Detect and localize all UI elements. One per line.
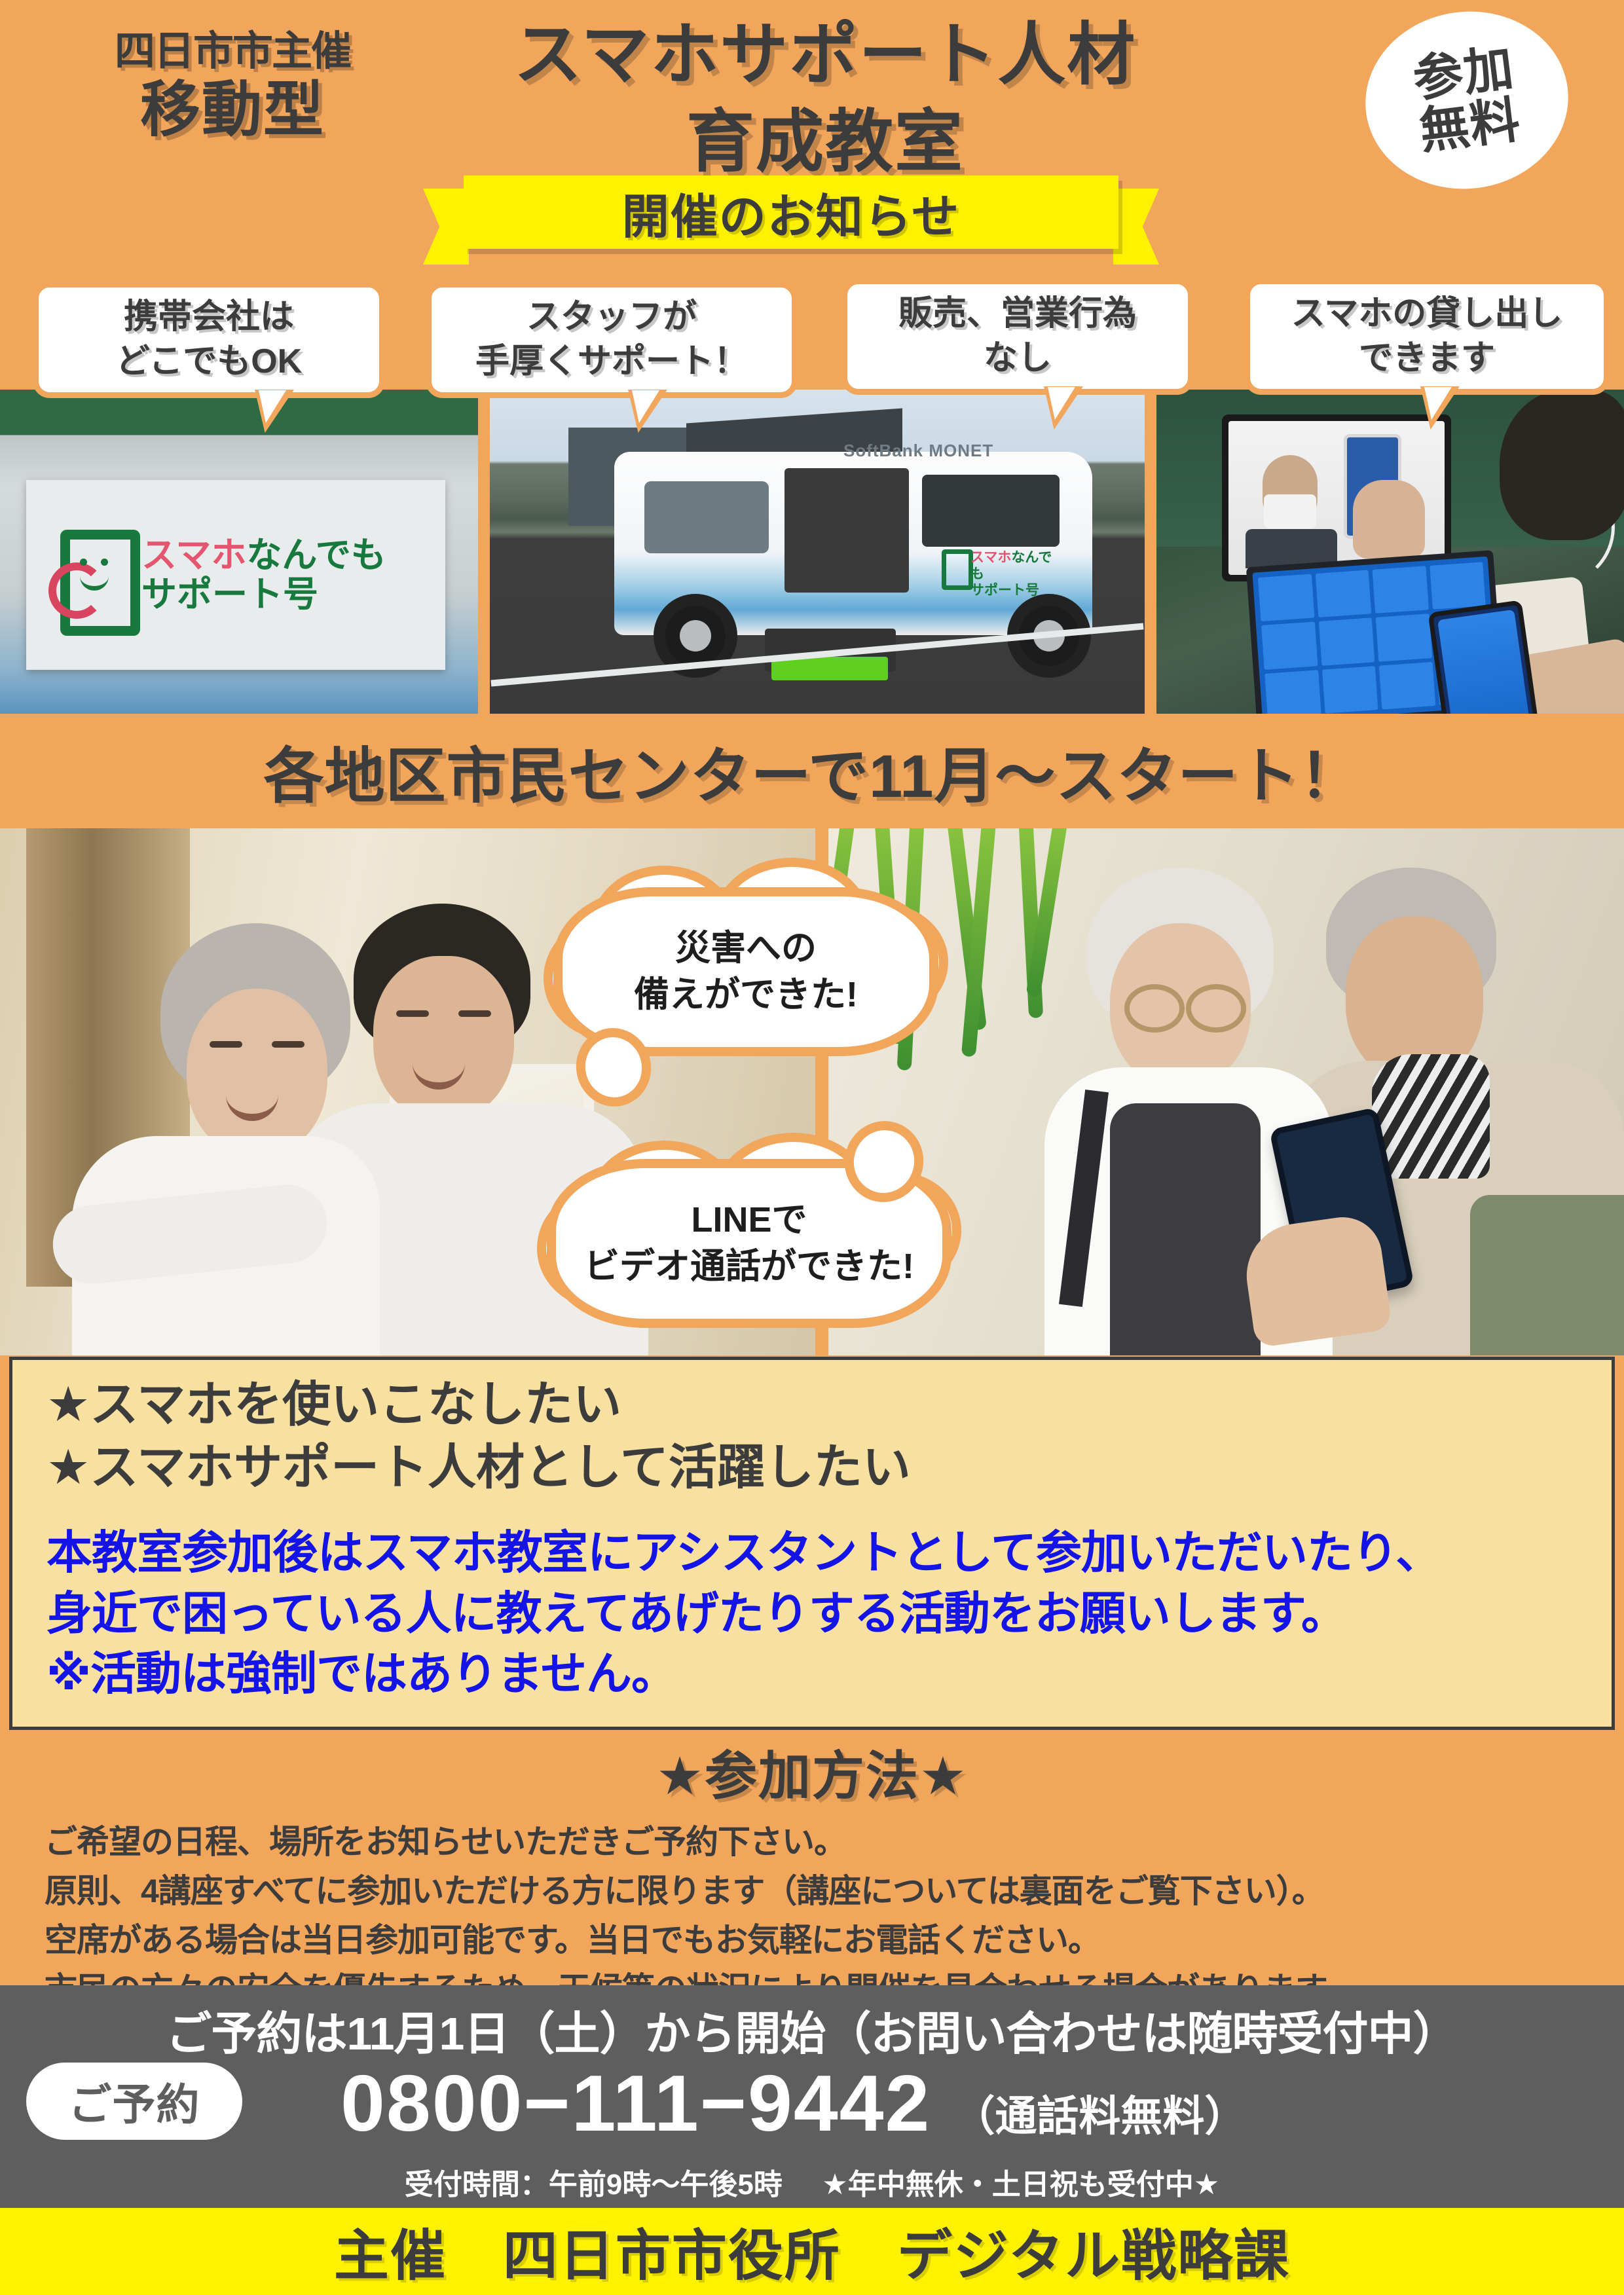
- van2-logo-line2: サポート号: [970, 582, 1053, 598]
- cloud-1-line-2: 備えができた!: [634, 972, 858, 1018]
- benefit-star-line-2: ★スマホサポート人材として活躍したい: [46, 1436, 1612, 1499]
- callout-1-line-2: どこでもOK: [116, 340, 302, 384]
- ribbon-label: 開催のお知らせ: [622, 178, 961, 247]
- van-side-logo: スマホなんでも サポート号: [942, 547, 1053, 587]
- van-signage-image: スマホなんでも サポート号: [0, 390, 478, 714]
- contact-footer: ご予約は11月1日（土）から開始（お問い合わせは随時受付中） ご予約 0800−…: [0, 1985, 1624, 2208]
- tablet-support-image: [1156, 390, 1624, 714]
- reservation-badge: ご予約: [26, 2063, 242, 2140]
- callout-bubble-carrier: 携帯会社は どこでもOK: [33, 282, 385, 398]
- benefit-blue-block: 本教室参加後はスマホ教室にアシスタントとして参加いただいたり、 身近で困っている…: [12, 1522, 1612, 1704]
- reception-hours-right: ★年中無休・土日祝も受付中★: [822, 2169, 1219, 2201]
- join-line-1: ご希望の日程、場所をお知らせいただきご予約下さい。: [45, 1818, 1624, 1867]
- how-to-join-section: ★参加方法★ ご希望の日程、場所をお知らせいただきご予約下さい。 原則、4講座す…: [0, 1730, 1624, 1985]
- van-logo-plate: スマホなんでも サポート号: [26, 480, 445, 670]
- cloud-2-line-1: LINEで: [584, 1197, 914, 1243]
- photo-van-parking: SoftBank MONET スマホなんでも サポート号: [490, 390, 1145, 714]
- title-line-1: スマホサポート人材: [458, 12, 1192, 99]
- benefits-box: ★スマホを使いこなしたい ★スマホサポート人材として活躍したい 本教室参加後はス…: [9, 1357, 1615, 1730]
- start-month-banner: 各地区市民センターで11月〜スタート！: [0, 714, 1624, 828]
- photo-van-signage: スマホなんでも サポート号: [0, 390, 478, 714]
- callout-4-line-1: スマホの貸し出し: [1291, 292, 1562, 337]
- van-logo-line1-a: スマホ: [141, 536, 246, 575]
- photo-tablet-support: [1156, 390, 1624, 714]
- van-logo-line1-b: なんでも: [246, 536, 386, 575]
- free-badge-line-2: 無料: [1417, 94, 1524, 158]
- host-block: 四日市市主催 移動型: [49, 31, 416, 140]
- callout-3-line-2: なし: [898, 337, 1137, 381]
- cloud-1-line-1: 災害への: [634, 925, 858, 972]
- host-small-text: 四日市市主催: [49, 31, 416, 72]
- join-line-2: 原則、4講座すべてに参加いただける方に限ります（講座については裏面をご覧下さい）…: [45, 1867, 1624, 1916]
- photo-divider-1: [478, 390, 490, 714]
- cloud-2-line-2: ビデオ通話ができた!: [584, 1243, 914, 1290]
- organizer-text: 主催 四日市市役所 デジタル戦略課: [334, 2212, 1290, 2291]
- poster-root: 四日市市主催 移動型 スマホサポート人材 育成教室 参加 無料 開催のお知らせ …: [0, 0, 1624, 2295]
- join-line-3: 空席がある場合は当日参加可能です。当日でもお気軽にお電話ください。: [45, 1916, 1624, 1965]
- host-big-text: 移動型: [49, 80, 416, 140]
- van2-logo-line1-a: スマホ: [970, 550, 1011, 565]
- phone-number[interactable]: 0800−111−9442: [341, 2057, 931, 2149]
- photo-strip: スマホなんでも サポート号 Sof: [0, 390, 1624, 714]
- page-title: スマホサポート人材 育成教室: [458, 12, 1192, 186]
- callout-2-line-2: 手厚くサポート！: [475, 340, 748, 384]
- phone-row[interactable]: 0800−111−9442 （通話料無料）: [341, 2057, 1246, 2149]
- ribbon-body: 開催のお知らせ: [464, 175, 1118, 249]
- reservation-badge-label: ご予約: [69, 2070, 200, 2133]
- reception-hours-left: 受付時間：午前9時〜午後5時: [405, 2169, 783, 2201]
- benefit-star-line-1: ★スマホを使いこなしたい: [46, 1373, 1612, 1436]
- van-brand-text: SoftBank MONET: [843, 441, 993, 461]
- photo-divider-2: [1145, 390, 1156, 714]
- cloud-callout-disaster-text: 災害への 備えができた!: [622, 925, 870, 1019]
- title-line-2: 育成教室: [458, 99, 1192, 186]
- callout-bubble-staff: スタッフが 手厚くサポート！: [426, 282, 798, 398]
- callout-bubble-carrier-text: 携帯会社は どこでもOK: [109, 295, 308, 384]
- callout-bubble-loaner: スマホの貸し出し できます: [1244, 278, 1610, 395]
- announcement-ribbon: 開催のお知らせ: [464, 175, 1118, 249]
- cloud-callout-line-video-text: LINEで ビデオ通話ができた!: [572, 1197, 926, 1291]
- organizer-footer: 主催 四日市市役所 デジタル戦略課: [0, 2208, 1624, 2295]
- van-logo-text: スマホなんでも サポート号: [141, 536, 386, 615]
- free-participation-badge: 参加 無料: [1356, 0, 1579, 200]
- reservation-start-text: ご予約は11月1日（土）から開始（お問い合わせは随時受付中）: [0, 1985, 1624, 2063]
- how-to-join-title: ★参加方法★: [0, 1730, 1624, 1810]
- callout-1-line-1: 携帯会社は: [116, 295, 302, 340]
- callout-3-line-1: 販売、営業行為: [898, 292, 1137, 337]
- start-month-text: 各地区市民センターで11月〜スタート！: [264, 727, 1361, 815]
- callout-bubble-nosales: 販売、営業行為 なし: [841, 278, 1194, 395]
- van-logo-line2: サポート号: [141, 575, 386, 614]
- benefit-blue-line-3: ※活動は強制ではありません。: [46, 1643, 1612, 1704]
- callout-2-line-1: スタッフが: [475, 295, 748, 340]
- phone-free-note: （通話料無料）: [953, 2083, 1246, 2143]
- callout-bubble-staff-text: スタッフが 手厚くサポート！: [469, 295, 754, 384]
- benefit-blue-line-2: 身近で困っている人に教えてあげたりする活動をお願いします。: [46, 1583, 1612, 1643]
- reception-hours: 受付時間：午前9時〜午後5時 ★年中無休・土日祝も受付中★: [0, 2161, 1624, 2203]
- callout-bubble-nosales-text: 販売、営業行為 なし: [892, 292, 1143, 380]
- van-parking-image: SoftBank MONET スマホなんでも サポート号: [490, 390, 1145, 714]
- callout-bubble-loaner-text: スマホの貸し出し できます: [1285, 292, 1569, 380]
- free-badge-text: 参加 無料: [1411, 42, 1523, 158]
- benefit-blue-line-1: 本教室参加後はスマホ教室にアシスタントとして参加いただいたり、: [46, 1522, 1612, 1583]
- callout-4-line-2: できます: [1291, 337, 1562, 381]
- smartphone-smile-icon: [48, 526, 127, 624]
- photo-couple-with-phone: [828, 828, 1624, 1355]
- how-to-join-lines: ご希望の日程、場所をお知らせいただきご予約下さい。 原則、4講座すべてに参加いた…: [45, 1818, 1624, 2014]
